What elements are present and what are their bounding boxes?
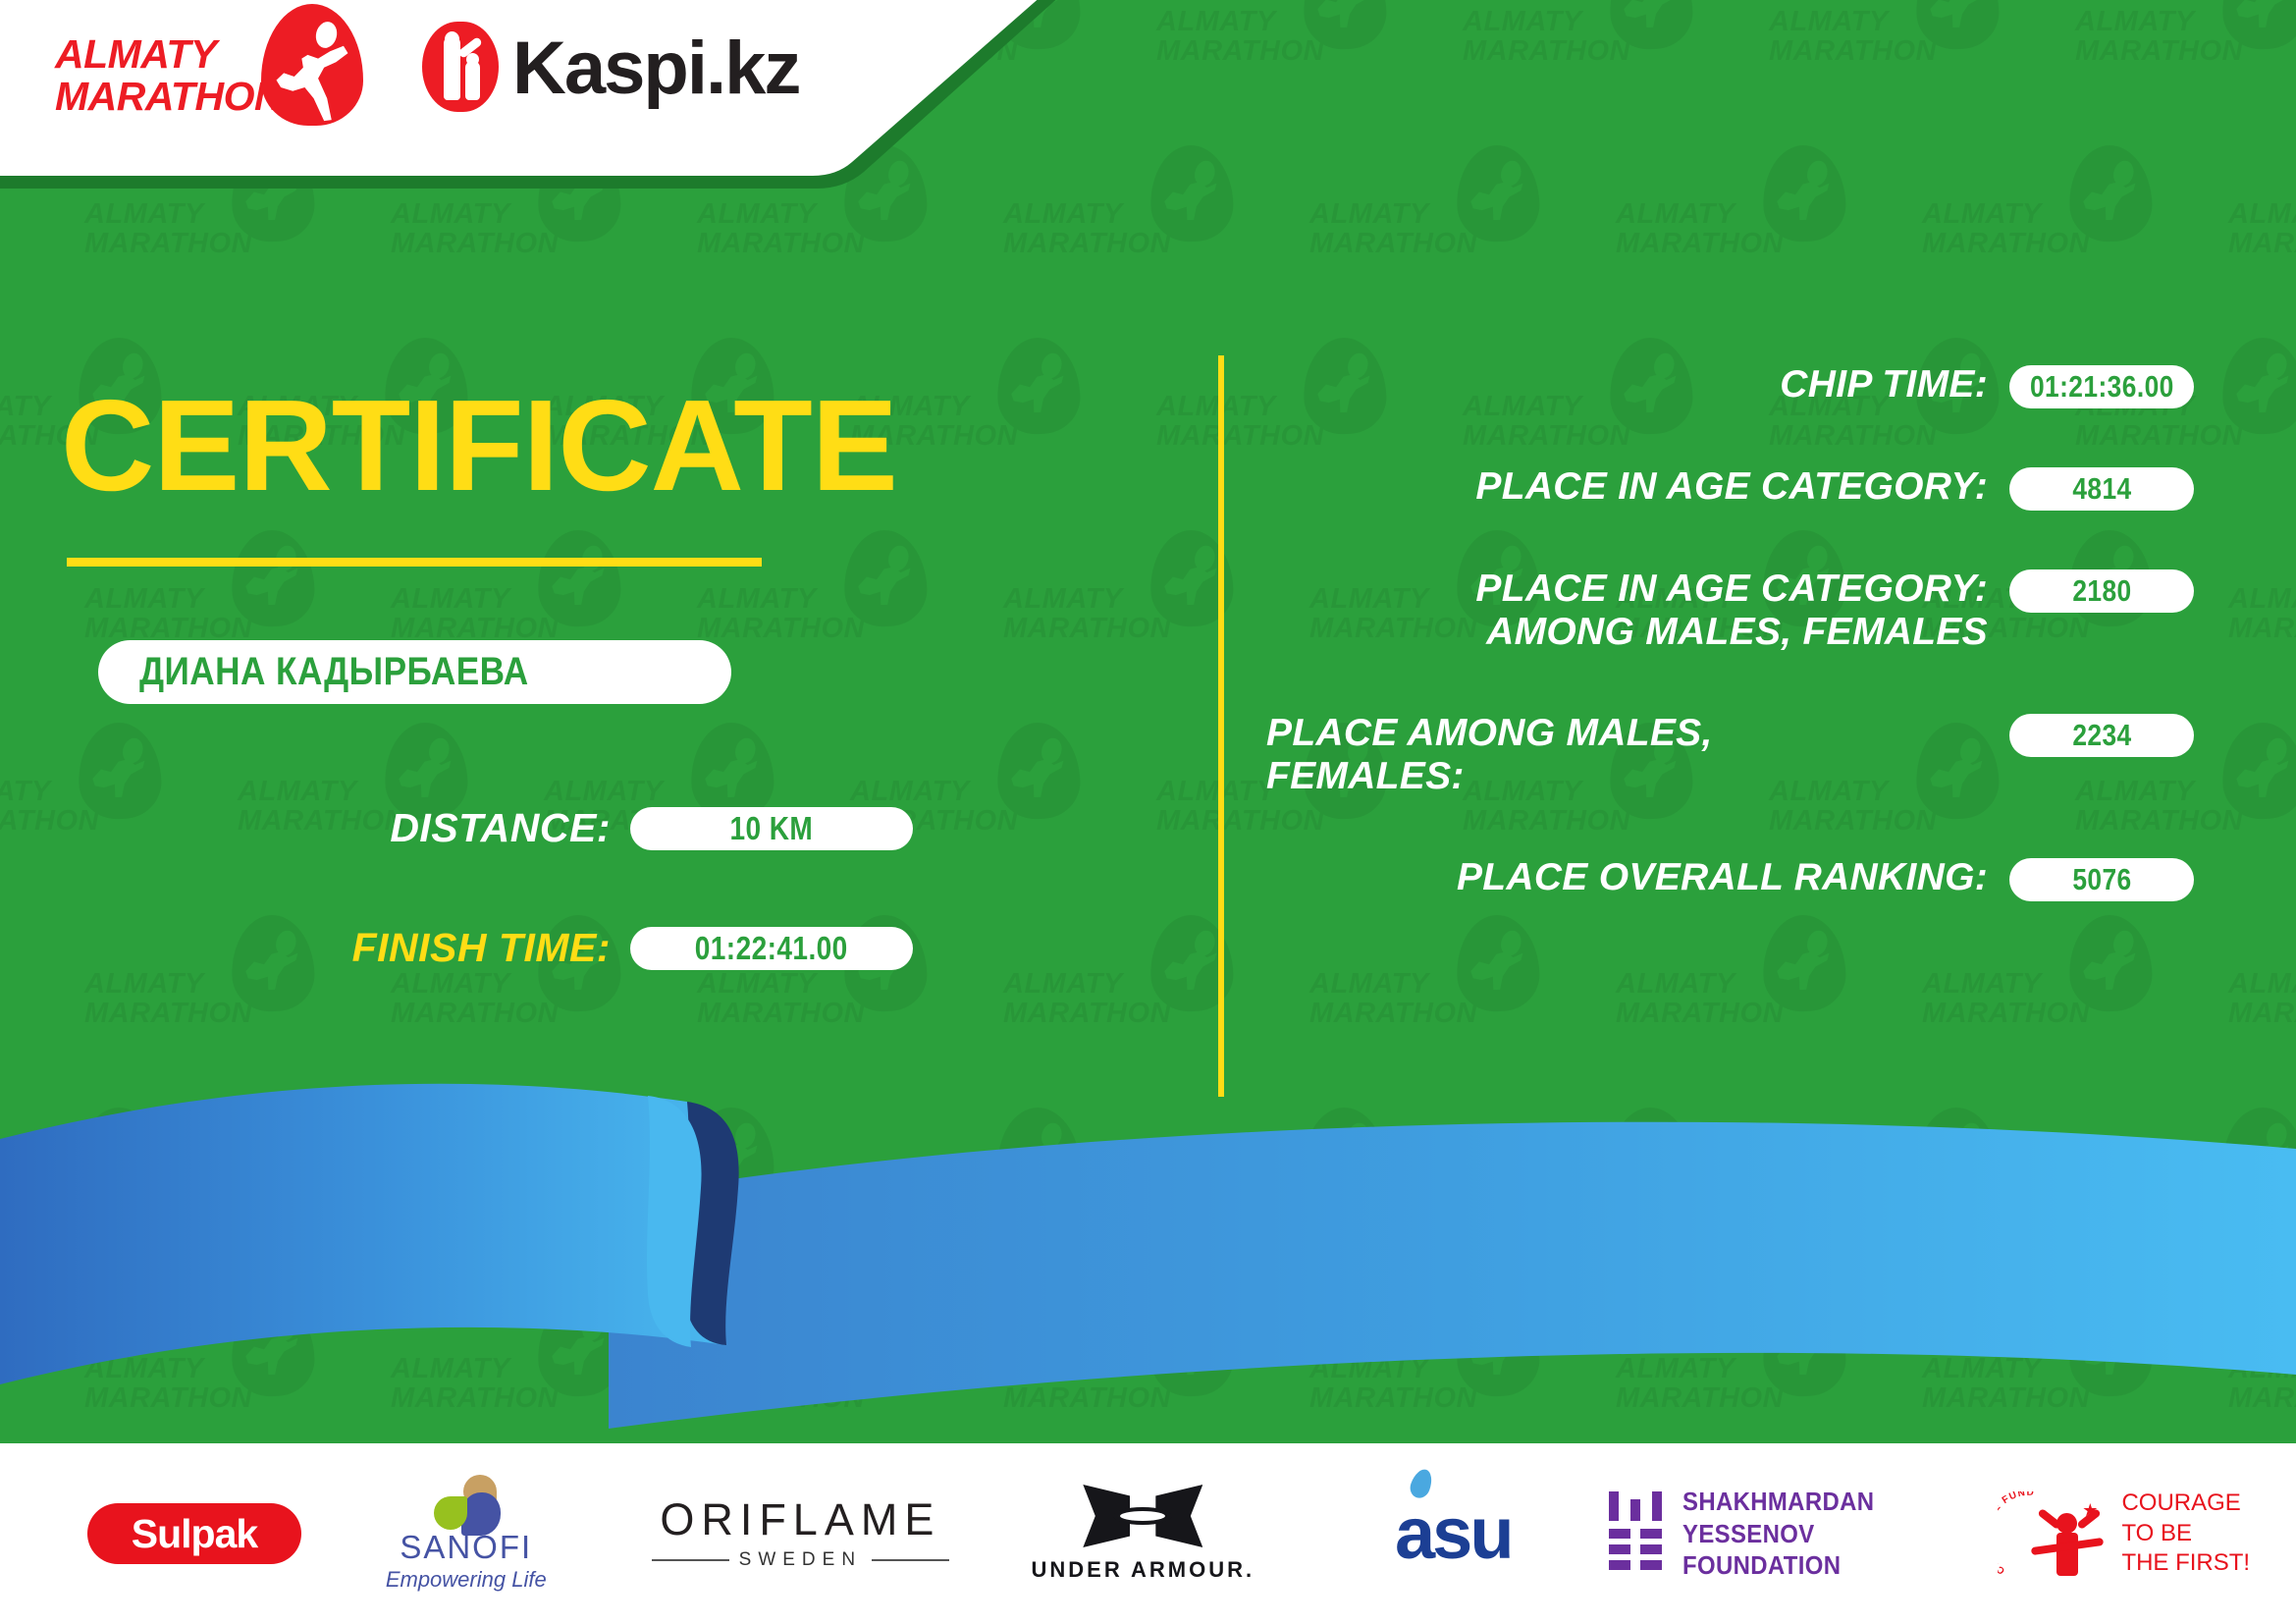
results-stats-list: CHIP TIME: 01:21:36.00 PLACE IN AGE CATE… xyxy=(1266,363,2194,958)
header-panel: ALMATY MARATHON Kaspi.kz xyxy=(0,0,1237,226)
column-divider xyxy=(1218,355,1224,1097)
sponsor-logo-sulpak: Sulpak xyxy=(59,1475,330,1593)
courage-fund-icon: CORPORATE FUND ★ xyxy=(1998,1482,2108,1586)
title-underline xyxy=(67,558,762,567)
place-age-category-label: PLACE IN AGE CATEGORY: xyxy=(1266,465,1988,509)
oriflame-label: ORIFLAME xyxy=(660,1497,940,1542)
ribbon-shape xyxy=(0,1080,2296,1492)
sanofi-tagline: Empowering Life xyxy=(386,1567,547,1593)
yessenov-icon xyxy=(1609,1491,1661,1576)
sulpak-badge: Sulpak xyxy=(87,1503,301,1564)
place-overall-value-pill: 5076 xyxy=(2009,858,2194,901)
almaty-marathon-logo-text: ALMATY MARATHON xyxy=(55,33,283,117)
athlete-name: ДИАНА КАДЫРБАЕВА xyxy=(139,650,529,694)
chip-time-value: 01:21:36.00 xyxy=(2030,369,2174,405)
place-age-category-gender-label: PLACE IN AGE CATEGORY: AMONG MALES, FEMA… xyxy=(1266,568,1988,655)
distance-label: DISTANCE: xyxy=(390,805,611,851)
under-armour-label: UNDER ARMOUR. xyxy=(1032,1557,1255,1583)
svg-text:CORPORATE FUND: CORPORATE FUND xyxy=(1998,1491,2035,1576)
certificate-root: ALMATYMARATHONALMATYMARATHONALMATYMARATH… xyxy=(0,0,2296,1624)
asu-label: asu xyxy=(1395,1497,1512,1570)
oriflame-sub-label: SWEDEN xyxy=(739,1549,862,1571)
sponsor-strip: Sulpak SANOFI Empowering Life ORIFLAME S… xyxy=(0,1443,2296,1624)
event-ribbon: APRIL 21 st RUN FOR SENSATIONS xyxy=(0,1080,2296,1492)
yessenov-label: SHAKHMARDAN YESSENOV FOUNDATION xyxy=(1682,1486,1964,1582)
place-overall-label: PLACE OVERALL RANKING: xyxy=(1266,856,1988,899)
chip-time-value-pill: 01:21:36.00 xyxy=(2009,365,2194,408)
place-overall-row: PLACE OVERALL RANKING: 5076 xyxy=(1266,856,2194,901)
place-overall-value: 5076 xyxy=(2072,862,2131,897)
kaspi-logo: Kaspi.kz xyxy=(422,16,834,124)
almaty-marathon-runner-icon xyxy=(261,4,363,126)
chip-time-row: CHIP TIME: 01:21:36.00 xyxy=(1266,363,2194,408)
place-age-category-gender-value-pill: 2180 xyxy=(2009,569,2194,613)
kaspi-family-icon xyxy=(422,22,499,112)
finish-time-value-pill: 01:22:41.00 xyxy=(630,927,913,970)
sponsor-logo-sanofi: SANOFI Empowering Life xyxy=(340,1475,593,1593)
place-among-gender-value-pill: 2234 xyxy=(2009,714,2194,757)
sponsor-logo-yessenov-foundation: SHAKHMARDAN YESSENOV FOUNDATION xyxy=(1609,1475,1988,1593)
finish-time-row: FINISH TIME: 01:22:41.00 xyxy=(0,925,913,971)
place-among-gender-label: PLACE AMONG MALES, FEMALES: xyxy=(1266,712,1988,799)
sponsor-logo-oriflame: ORIFLAME SWEDEN xyxy=(652,1475,950,1593)
place-age-category-value-pill: 4814 xyxy=(2009,467,2194,511)
place-age-category-gender-row: PLACE IN AGE CATEGORY: AMONG MALES, FEMA… xyxy=(1266,568,2194,655)
place-among-gender-row: PLACE AMONG MALES, FEMALES: 2234 xyxy=(1266,712,2194,799)
courage-fund-label: COURAGE TO BE THE FIRST! xyxy=(2121,1489,2250,1579)
oriflame-sub: SWEDEN xyxy=(652,1549,950,1571)
athlete-name-field: ДИАНА КАДЫРБАЕВА xyxy=(98,640,731,704)
distance-value: 10 KM xyxy=(730,810,814,847)
almaty-marathon-logo: ALMATY MARATHON xyxy=(55,4,379,132)
sponsor-logo-courage-fund: CORPORATE FUND ★ COURAGE TO BE THE FIRST… xyxy=(1998,1475,2296,1593)
sponsor-logo-asu: asu xyxy=(1327,1475,1580,1593)
finish-time-value: 01:22:41.00 xyxy=(695,930,848,967)
chip-time-label: CHIP TIME: xyxy=(1266,363,1988,406)
finish-time-label: FINISH TIME: xyxy=(352,925,611,971)
place-age-category-gender-value: 2180 xyxy=(2072,573,2131,609)
sanofi-icon xyxy=(430,1475,503,1527)
place-among-gender-value: 2234 xyxy=(2072,718,2131,753)
sponsor-logo-under-armour: UNDER ARMOUR. xyxy=(998,1475,1287,1593)
place-age-category-value: 4814 xyxy=(2072,471,2131,507)
courage-fund-runner-icon: ★ xyxy=(2035,1499,2104,1580)
sulpak-label: Sulpak xyxy=(132,1511,257,1557)
page-title: CERTIFICATE xyxy=(61,381,897,511)
kaspi-logo-text: Kaspi.kz xyxy=(512,26,799,111)
under-armour-icon xyxy=(1083,1485,1202,1547)
distance-row: DISTANCE: 10 KM xyxy=(0,805,913,851)
place-age-category-row: PLACE IN AGE CATEGORY: 4814 xyxy=(1266,465,2194,511)
distance-value-pill: 10 KM xyxy=(630,807,913,850)
